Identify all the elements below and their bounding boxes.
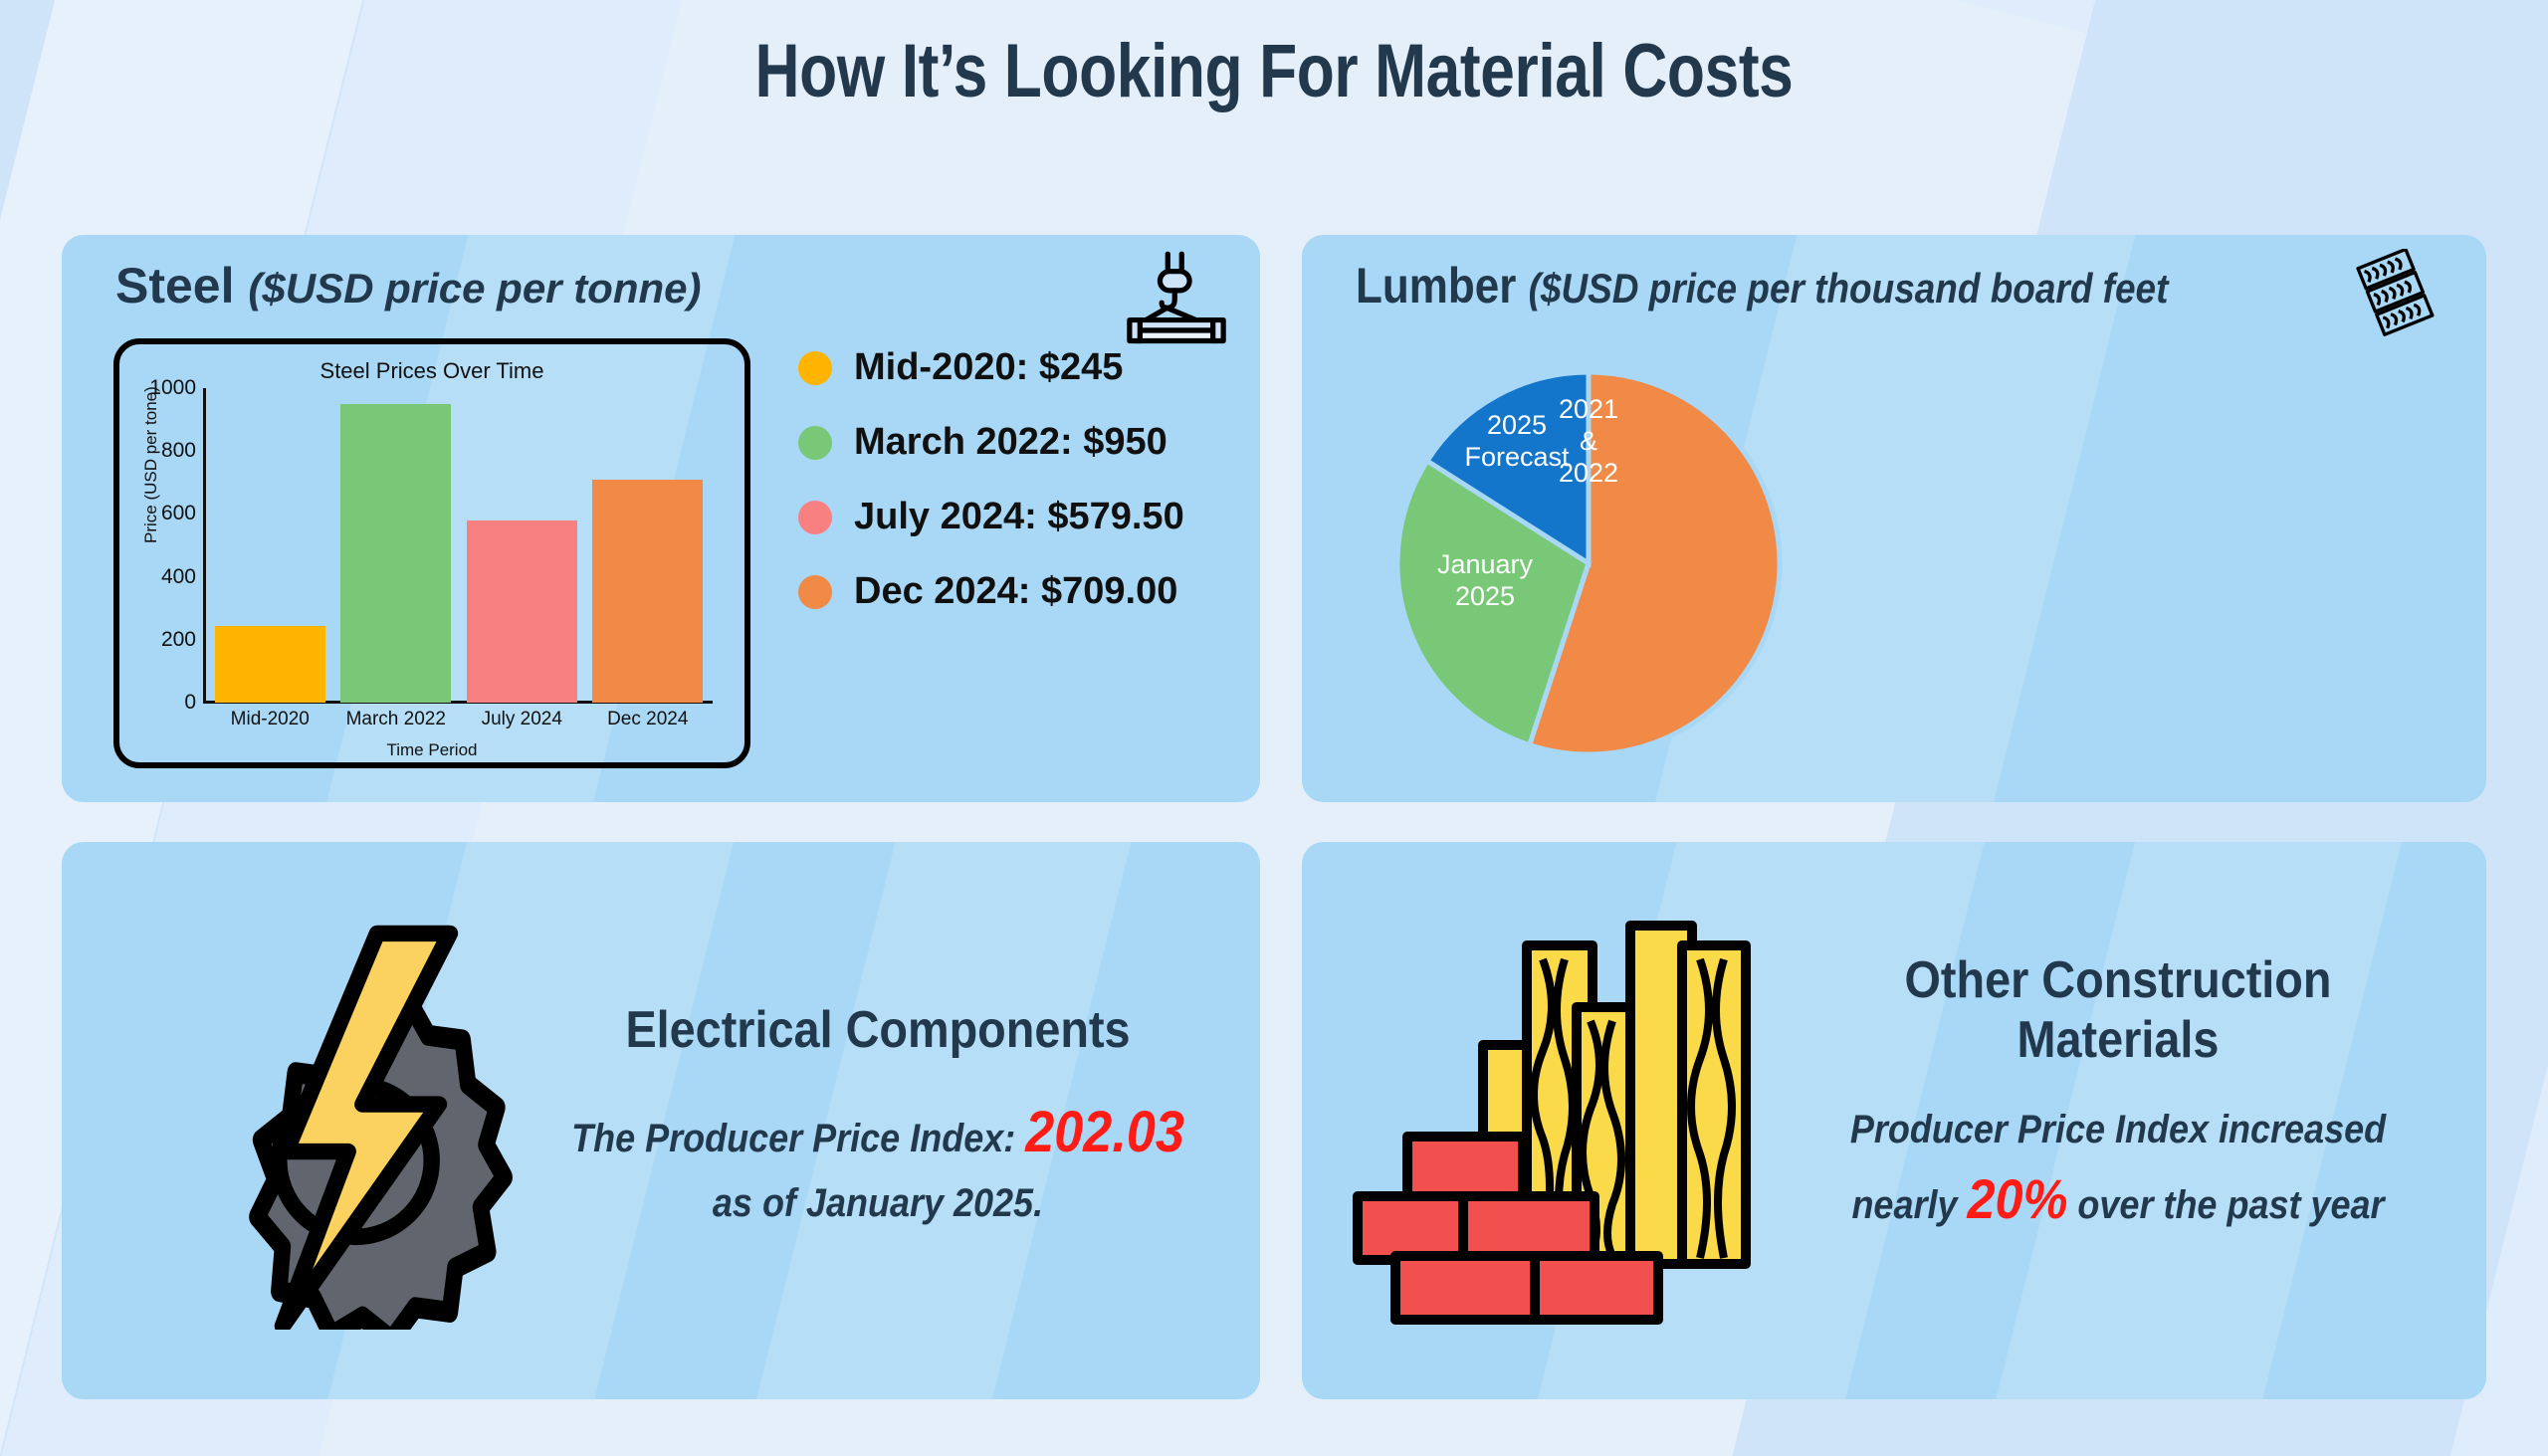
bar-dec-2024	[592, 480, 703, 703]
bar-group	[340, 388, 451, 703]
electrical-body: The Producer Price Index: 202.03 as of J…	[564, 1091, 1191, 1232]
chart-x-tick-labels: Mid-2020 March 2022 July 2024 Dec 2024	[207, 709, 711, 730]
bar-march-2022	[340, 404, 451, 703]
legend-dot-icon	[798, 426, 832, 460]
gear-lightning-bolt-icon	[171, 912, 539, 1330]
steel-card-heading: Steel ($USD price per tonne)	[115, 257, 702, 314]
electrical-ppi-value: 202.03	[1025, 1100, 1184, 1164]
other-title: Other Construction Materials	[1805, 951, 2432, 1071]
bar-group	[467, 388, 577, 703]
chart-y-axis-label: Price (USD per tone)	[141, 386, 161, 543]
legend-dot-icon	[798, 351, 832, 385]
lumber-card-heading: Lumber ($USD price per thousand board fe…	[1356, 257, 2168, 314]
legend-dot-icon	[798, 575, 832, 609]
other-body: Producer Price Index increased nearly 20…	[1805, 1101, 2432, 1239]
x-tick-3: Dec 2024	[592, 709, 703, 730]
lumber-card: Lumber ($USD price per thousand board fe…	[1302, 235, 2486, 802]
electrical-body-before: The Producer Price Index:	[571, 1117, 1025, 1160]
steel-legend: Mid-2020: $245 March 2022: $950 July 202…	[798, 346, 1236, 645]
legend-item: Dec 2024: $709.00	[798, 570, 1236, 613]
legend-item-label: July 2024: $579.50	[854, 496, 1184, 538]
chart-bars	[207, 388, 711, 703]
crane-hook-steel-beams-icon	[1123, 249, 1230, 344]
other-ppi-percent: 20%	[1968, 1167, 2068, 1230]
steel-card: Steel ($USD price per tonne) Steel	[62, 235, 1260, 802]
chart-x-axis-label: Time Period	[119, 740, 744, 760]
steel-bar-chart: Steel Prices Over Time Price (USD per to…	[113, 338, 750, 768]
bar-mid-2020	[215, 626, 325, 703]
legend-item: Mid-2020: $245	[798, 346, 1236, 389]
pie-slice-label-2025-forecast: 2025 Forecast	[1464, 410, 1569, 474]
pie-slice-label-january-2025: January 2025	[1437, 549, 1533, 613]
bar-group	[215, 388, 325, 703]
lumber-planks-stack-icon	[2349, 249, 2456, 344]
other-construction-materials-card: Other Construction Materials Producer Pr…	[1302, 842, 2486, 1399]
other-text-block: Other Construction Materials Producer Pr…	[1770, 951, 2466, 1239]
legend-item: July 2024: $579.50	[798, 496, 1236, 538]
y-tick-400: 400	[161, 565, 196, 589]
legend-item-label: March 2022: $950	[854, 421, 1168, 464]
chart-title: Steel Prices Over Time	[119, 358, 744, 384]
electrical-text-block: Electrical Components The Producer Price…	[530, 1001, 1226, 1232]
legend-item-label: Mid-2020: $245	[854, 346, 1123, 389]
chart-y-axis: 0 200 400 600 800 1000	[203, 388, 206, 703]
lumber-pie-chart: 2021 & 2022 January 2025 2025 Forecast	[1389, 364, 1788, 762]
other-body-after: over the past year	[2067, 1183, 2384, 1227]
bar-july-2024	[467, 520, 577, 703]
other-body-line1: Producer Price Index increased	[1850, 1108, 2386, 1151]
bar-group	[592, 388, 703, 703]
x-tick-2: July 2024	[467, 709, 577, 730]
lumber-heading-unit: ($USD price per thousand board feet	[1529, 265, 2169, 312]
electrical-body-after: as of January 2025.	[713, 1181, 1043, 1225]
y-tick-800: 800	[161, 439, 196, 463]
infographic-page: How It’s Looking For Material Costs Stee…	[0, 0, 2548, 1456]
y-tick-0: 0	[184, 691, 196, 715]
legend-item-label: Dec 2024: $709.00	[854, 570, 1177, 613]
y-tick-200: 200	[161, 628, 196, 652]
y-tick-600: 600	[161, 502, 196, 525]
y-tick-1000: 1000	[149, 376, 196, 400]
x-tick-0: Mid-2020	[215, 709, 325, 730]
legend-dot-icon	[798, 501, 832, 534]
steel-heading-text: Steel	[115, 258, 235, 313]
x-tick-1: March 2022	[340, 709, 451, 730]
steel-heading-unit: ($USD price per tonne)	[248, 265, 701, 312]
lumber-heading-text: Lumber	[1356, 258, 1516, 313]
legend-item: March 2022: $950	[798, 421, 1236, 464]
other-body-before: nearly	[1851, 1183, 1967, 1227]
electrical-components-card: Electrical Components The Producer Price…	[62, 842, 1260, 1399]
electrical-title: Electrical Components	[564, 1001, 1191, 1061]
bricks-and-planks-icon	[1352, 912, 1770, 1330]
page-title: How It’s Looking For Material Costs	[229, 28, 2318, 114]
